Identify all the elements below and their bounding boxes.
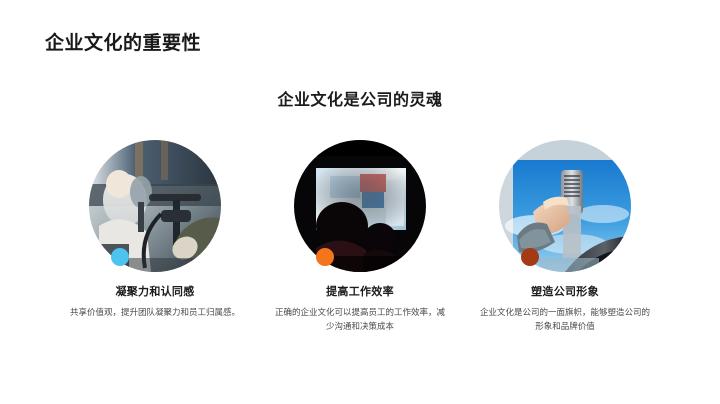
cards-row: 凝聚力和认同感 共享价值观，提升团队凝聚力和员工归属感。 xyxy=(60,140,660,333)
accent-dot xyxy=(316,248,334,266)
card-description: 共享价值观，提升团队凝聚力和员工归属感。 xyxy=(68,305,243,319)
card-item[interactable]: 提高工作效率 正确的企业文化可以提高员工的工作效率，减少沟通和决策成本 xyxy=(265,140,455,333)
photo-wrapper xyxy=(89,140,221,272)
photo-wrapper xyxy=(499,140,631,272)
page-title: 企业文化的重要性 xyxy=(45,28,201,55)
accent-dot xyxy=(521,248,539,266)
card-description: 正确的企业文化可以提高员工的工作效率，减少沟通和决策成本 xyxy=(273,305,448,333)
accent-dot xyxy=(111,248,129,266)
recording-studio-microphone-photo xyxy=(89,140,221,272)
card-item[interactable]: 塑造公司形象 企业文化是公司的一面旗帜，能够塑造公司的形象和品牌价值 xyxy=(470,140,660,333)
card-title: 凝聚力和认同感 xyxy=(115,283,194,299)
card-title: 塑造公司形象 xyxy=(531,283,599,299)
hand-holding-microphone-sky-photo xyxy=(499,140,631,272)
audience-watching-screen-photo xyxy=(294,140,426,272)
card-item[interactable]: 凝聚力和认同感 共享价值观，提升团队凝聚力和员工归属感。 xyxy=(60,140,250,319)
slide-canvas: 企业文化的重要性 企业文化是公司的灵魂 xyxy=(0,0,720,404)
photo-wrapper xyxy=(294,140,426,272)
card-title: 提高工作效率 xyxy=(326,283,394,299)
slide-subtitle: 企业文化是公司的灵魂 xyxy=(0,86,720,110)
card-description: 企业文化是公司的一面旗帜，能够塑造公司的形象和品牌价值 xyxy=(478,305,653,333)
